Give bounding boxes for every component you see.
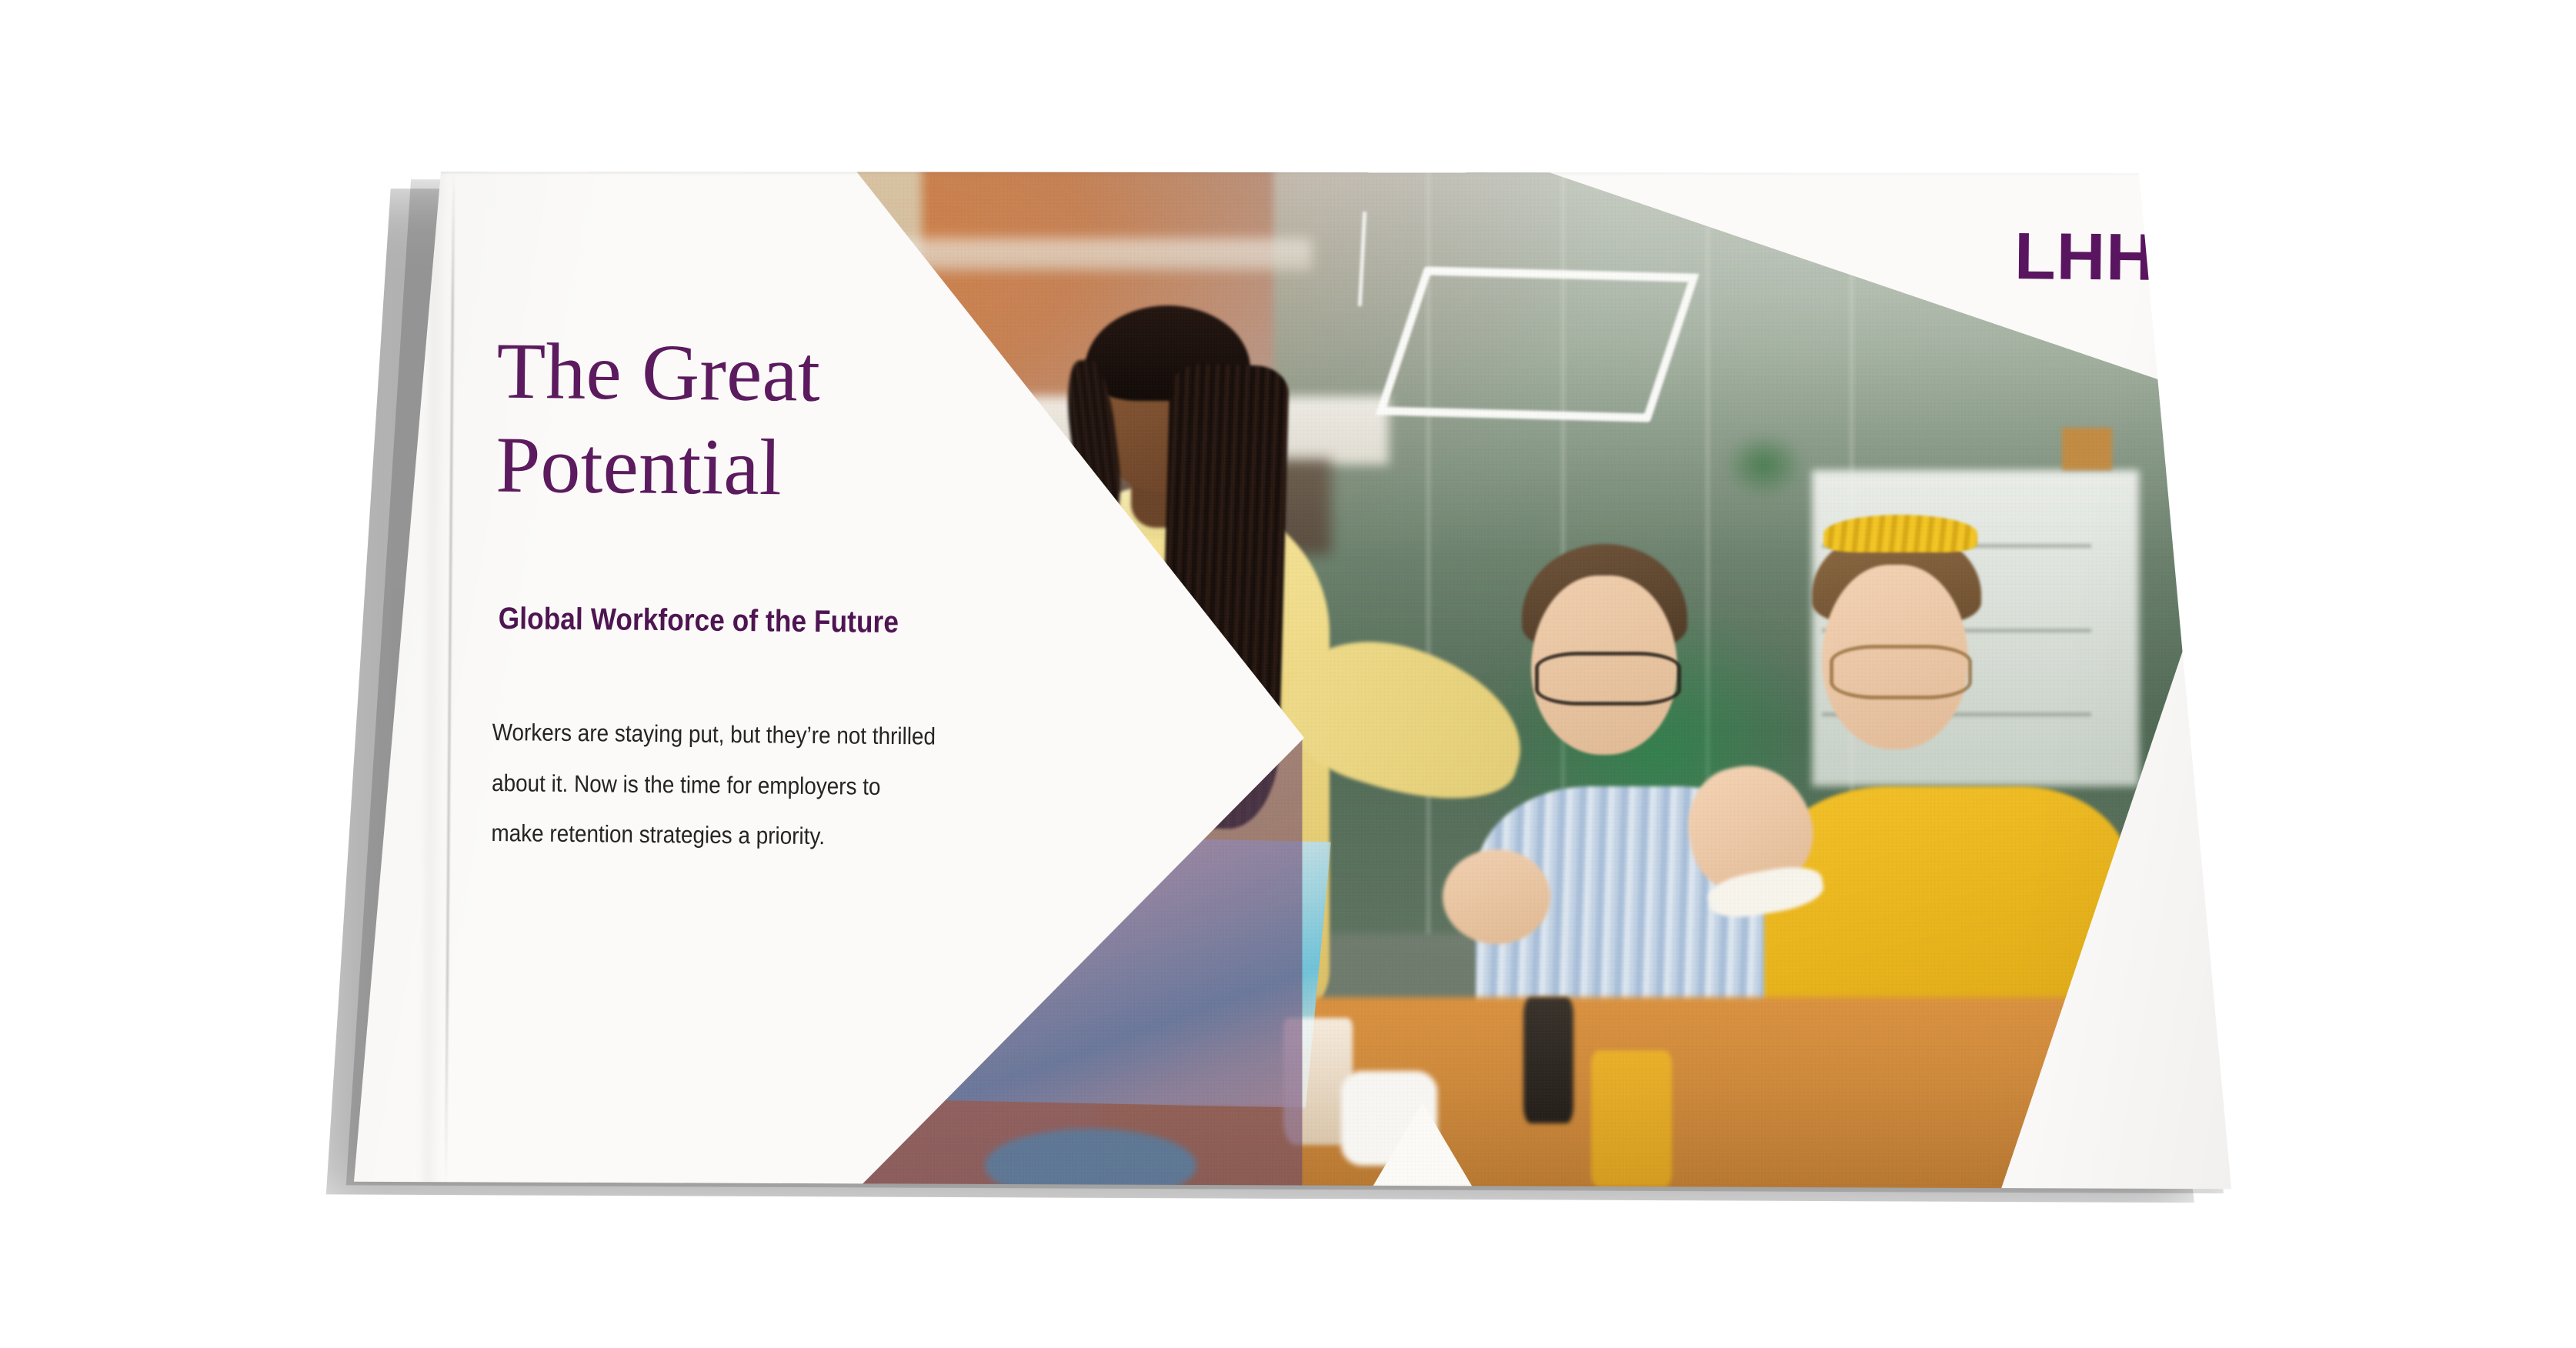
page-title: The Great Potential — [496, 325, 1190, 519]
cover-surface: The Great Potential Global Workforce of … — [331, 154, 2254, 1208]
title-line-1: The Great — [496, 325, 1190, 425]
report-cover-book[interactable]: The Great Potential Global Workforce of … — [331, 154, 2254, 1208]
cover-blurb: Workers are staying put, but they’re not… — [491, 707, 1055, 864]
page-subtitle: Global Workforce of the Future — [498, 602, 1107, 642]
blurb-line-1: Workers are staying put, but they’re not… — [492, 707, 1055, 763]
lhh-logo[interactable]: LHH — [2014, 219, 2156, 296]
blurb-line-3: make retention strategies a priority. — [491, 809, 1054, 865]
cover-mockup-canvas: The Great Potential Global Workforce of … — [0, 0, 2576, 1348]
title-line-2: Potential — [496, 418, 1189, 518]
blurb-line-2: about it. Now is the time for employers … — [492, 758, 1055, 814]
